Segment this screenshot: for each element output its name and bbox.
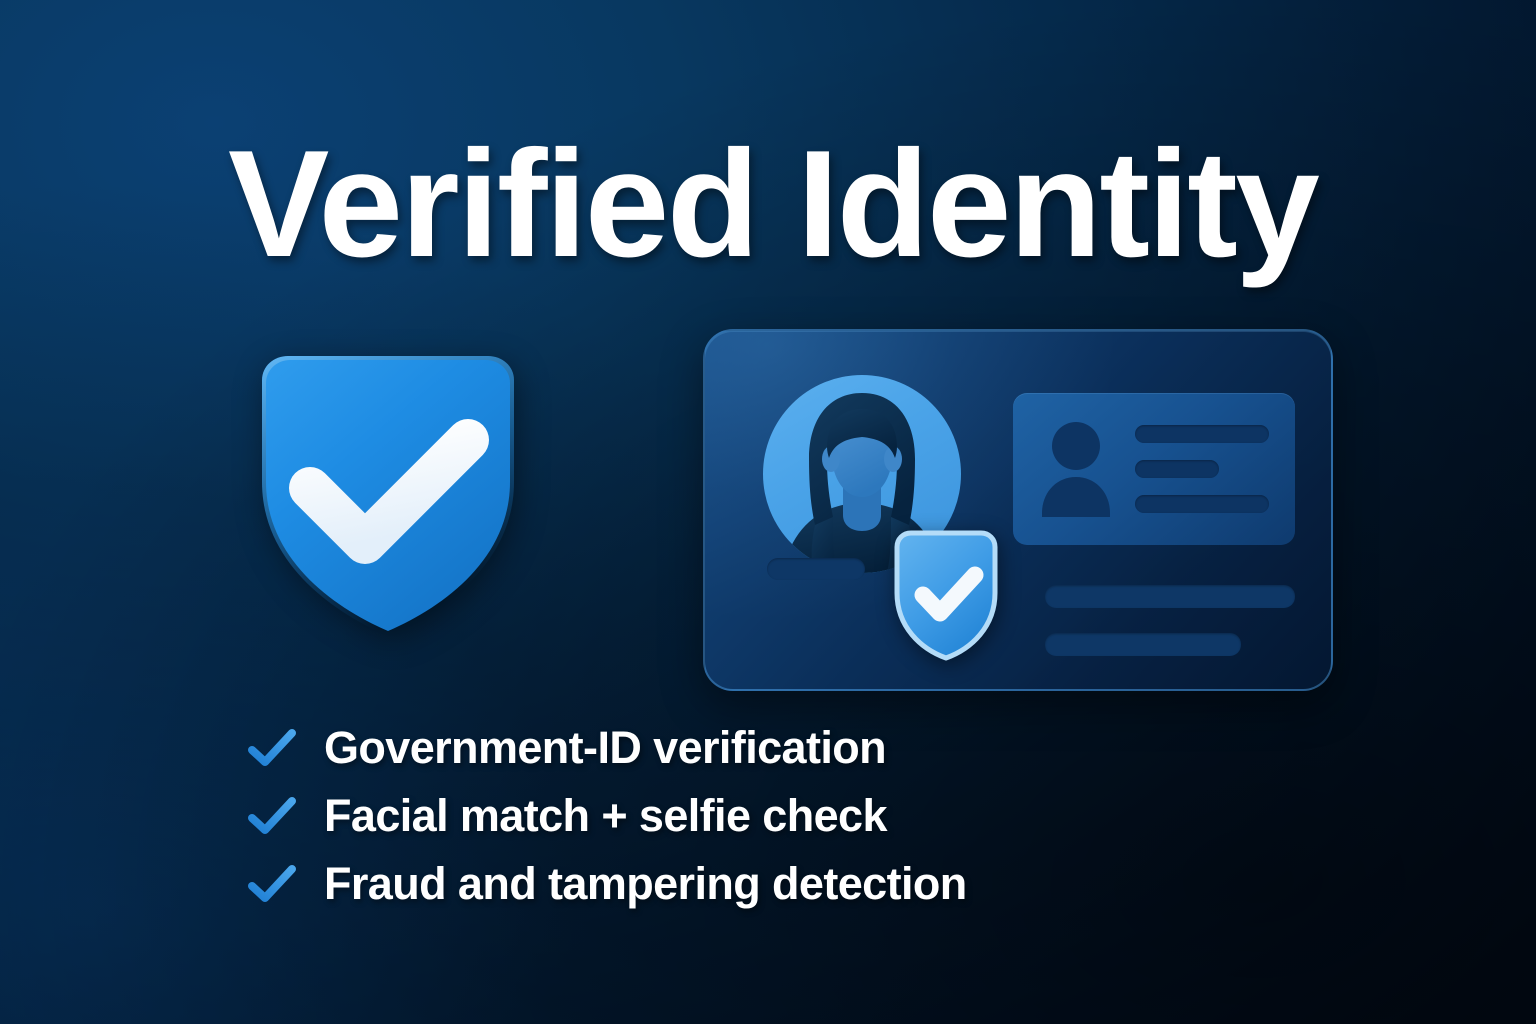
feature-list: Government-ID verification Facial match … [246,714,1146,918]
feature-item-fraud-detection: Fraud and tampering detection [246,850,1146,918]
card-bar-wide-1 [1045,585,1295,608]
check-icon [246,794,298,838]
id-card [703,329,1333,691]
feature-label: Facial match + selfie check [324,790,887,842]
shield-check-icon [232,332,544,640]
info-bar-1 [1135,425,1269,443]
card-bar-wide-2 [1045,633,1241,656]
person-glyph-icon [1039,419,1113,517]
feature-item-government-id: Government-ID verification [246,714,1146,782]
shield-check-badge-icon [885,525,1007,661]
page-title: Verified Identity [228,128,1368,280]
feature-label: Fraud and tampering detection [324,858,967,910]
poster-canvas: Verified Identity [0,0,1536,1024]
check-icon [246,726,298,770]
info-bar-3 [1135,495,1269,513]
info-bar-2 [1135,460,1219,478]
check-icon [246,862,298,906]
feature-item-facial-match: Facial match + selfie check [246,782,1146,850]
card-info-panel [1013,393,1295,545]
feature-label: Government-ID verification [324,722,886,774]
card-bar-short [767,558,865,580]
